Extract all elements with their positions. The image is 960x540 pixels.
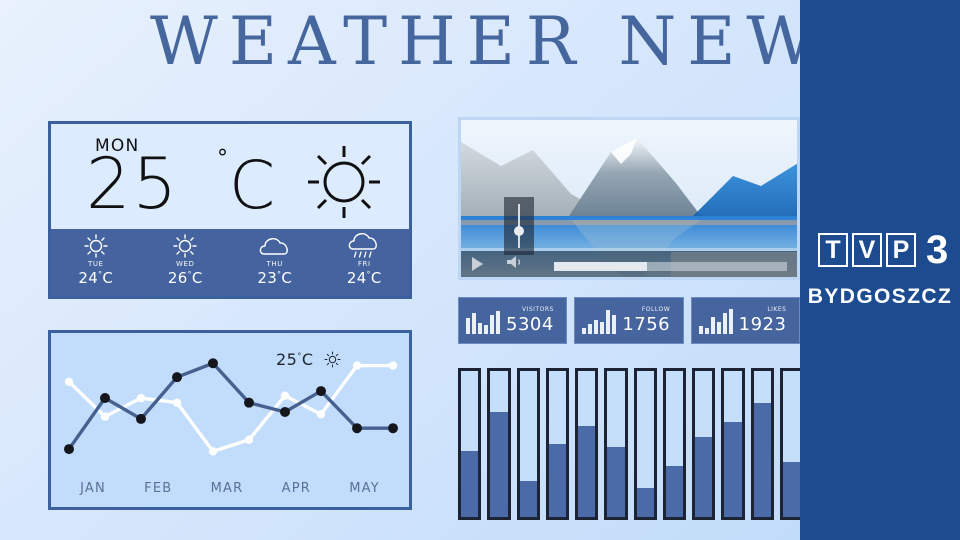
gauge-fill [666,466,683,517]
chart-point [64,444,74,454]
weather-forecast-row: TUE 24°C WED 26°C [51,229,409,296]
tvp-logo: T V P 3 [818,233,948,267]
video-progress-fill [554,262,647,271]
chart-tick-jan: JAN [80,481,106,496]
weather-card: MON 25 ° C [48,121,412,299]
mini-bar [478,323,482,334]
chart-point [388,423,398,433]
chart-tick-feb: FEB [144,481,172,496]
stat-cards: VISITORS 5304 FOLLOW 1756 LIKES 1923 [458,297,800,344]
stat-card-visitors[interactable]: VISITORS 5304 [458,297,567,344]
mini-bar [490,315,494,334]
forecast-day-thu[interactable]: THU 23°C [230,229,320,296]
logo-letter-p: P [886,233,916,267]
gauge-bar[interactable] [634,368,657,520]
weather-today: MON 25 ° C [51,124,409,232]
mini-bar [600,322,604,334]
chart-badge-temp: 25 [276,350,297,369]
volume-slider-knob[interactable] [514,226,524,236]
chart-point [209,447,217,455]
chart-point [65,378,73,386]
chart-point [100,393,110,403]
mini-bar [496,311,500,334]
gauge-fill [520,481,537,518]
chart-point [208,358,218,368]
forecast-day-temp: 26°C [141,269,231,287]
gauge-fill [724,422,741,517]
weather-temperature: 25 [86,142,179,226]
gauge-bar-chart [458,368,803,520]
stat-value: 1923 [739,316,787,334]
forecast-day-temp: 24°C [51,269,141,287]
gauge-bar[interactable] [575,368,598,520]
forecast-day-wed[interactable]: WED 26°C [141,229,231,296]
gauge-bar[interactable] [663,368,686,520]
stat-label: VISITORS [506,307,554,313]
gauge-fill [754,403,771,517]
bar-chart-icon [466,308,500,334]
chart-point [316,386,326,396]
volume-slider-popup[interactable] [504,197,534,255]
chart-line-temperature-light [69,366,393,452]
sun-icon [141,233,231,259]
stat-card-likes[interactable]: LIKES 1923 [691,297,800,344]
chart-point [244,398,254,408]
chart-point [353,361,361,369]
gauge-bar[interactable] [604,368,627,520]
mini-bar [472,313,476,334]
sun-icon [51,233,141,259]
broadcaster-panel: T V P 3 BYDGOSZCZ [800,0,960,540]
chart-point [281,392,289,400]
stat-value: 1756 [622,316,670,334]
chart-point [389,361,397,369]
forecast-day-name: THU [230,260,320,268]
mini-bar [588,324,592,334]
gauge-fill [695,437,712,517]
mini-bar [699,326,703,334]
degree-symbol: ° [217,146,228,171]
chart-badge-unit: C [302,350,314,369]
stat-label: FOLLOW [622,307,670,313]
chart-point [136,414,146,424]
mini-bar [612,315,616,334]
forecast-day-name: WED [141,260,231,268]
gauge-bar[interactable] [751,368,774,520]
forecast-day-tue[interactable]: TUE 24°C [51,229,141,296]
forecast-day-fri[interactable]: FRI 24°C [320,229,410,296]
chart-point [137,394,145,402]
gauge-fill [490,412,507,517]
chart-point [352,423,362,433]
logo-city-name: BYDGOSZCZ [800,285,960,309]
chart-temperature-badge: 25°C [276,350,341,372]
mini-bar [717,322,721,334]
sun-icon [305,142,383,223]
stat-label: LIKES [739,307,787,313]
mini-bar [705,328,709,334]
mini-bar [729,309,733,334]
mini-bar [711,317,715,334]
mini-bar [484,325,488,334]
chart-point [173,398,181,406]
chart-point [101,412,109,420]
gauge-fill [461,451,478,517]
chart-point [172,372,182,382]
chart-line-temperature-dark [69,363,393,449]
bar-chart-icon [699,308,733,334]
gauge-bar[interactable] [721,368,744,520]
rain-icon [320,233,410,259]
speaker-icon[interactable] [505,254,525,275]
mini-bar [582,328,586,334]
gauge-fill [549,444,566,517]
sun-icon [324,351,341,372]
gauge-bar[interactable] [517,368,540,520]
gauge-fill [607,447,624,517]
forecast-day-temp: 24°C [320,269,410,287]
chart-tick-may: MAY [349,481,380,496]
play-icon[interactable] [472,257,483,271]
logo-letter-v: V [852,233,882,267]
forecast-day-name: FRI [320,260,410,268]
chart-tick-apr: APR [282,481,311,496]
logo-letter-t: T [818,233,848,267]
line-chart-card: JAN FEB MAR APR MAY [48,330,412,510]
chart-point [317,410,325,418]
mini-bar [606,310,610,334]
logo-channel-number: 3 [926,233,948,267]
gauge-bar[interactable] [546,368,569,520]
mini-bar [466,318,470,334]
chart-point [280,407,290,417]
stat-card-follow[interactable]: FOLLOW 1756 [574,297,683,344]
bar-chart-icon [582,308,616,334]
chart-point [245,436,253,444]
gauge-bar[interactable] [692,368,715,520]
gauge-bar[interactable] [487,368,510,520]
gauge-fill [637,488,654,517]
video-player[interactable] [458,117,800,280]
video-controls-bar[interactable] [461,251,797,277]
forecast-day-name: TUE [51,260,141,268]
chart-x-axis-labels: JAN FEB MAR APR MAY [51,481,409,496]
stat-value: 5304 [506,316,554,334]
gauge-bar[interactable] [458,368,481,520]
video-progress-bar[interactable] [554,262,787,271]
mini-bar [723,313,727,334]
page-title: WEATHER NEWS [150,2,850,82]
forecast-day-temp: 23°C [230,269,320,287]
gauge-fill [578,426,595,517]
gauge-fill [783,462,800,517]
weather-unit: C [229,144,275,228]
mini-bar [594,320,598,334]
cloud-icon [230,233,320,259]
chart-tick-mar: MAR [211,481,244,496]
